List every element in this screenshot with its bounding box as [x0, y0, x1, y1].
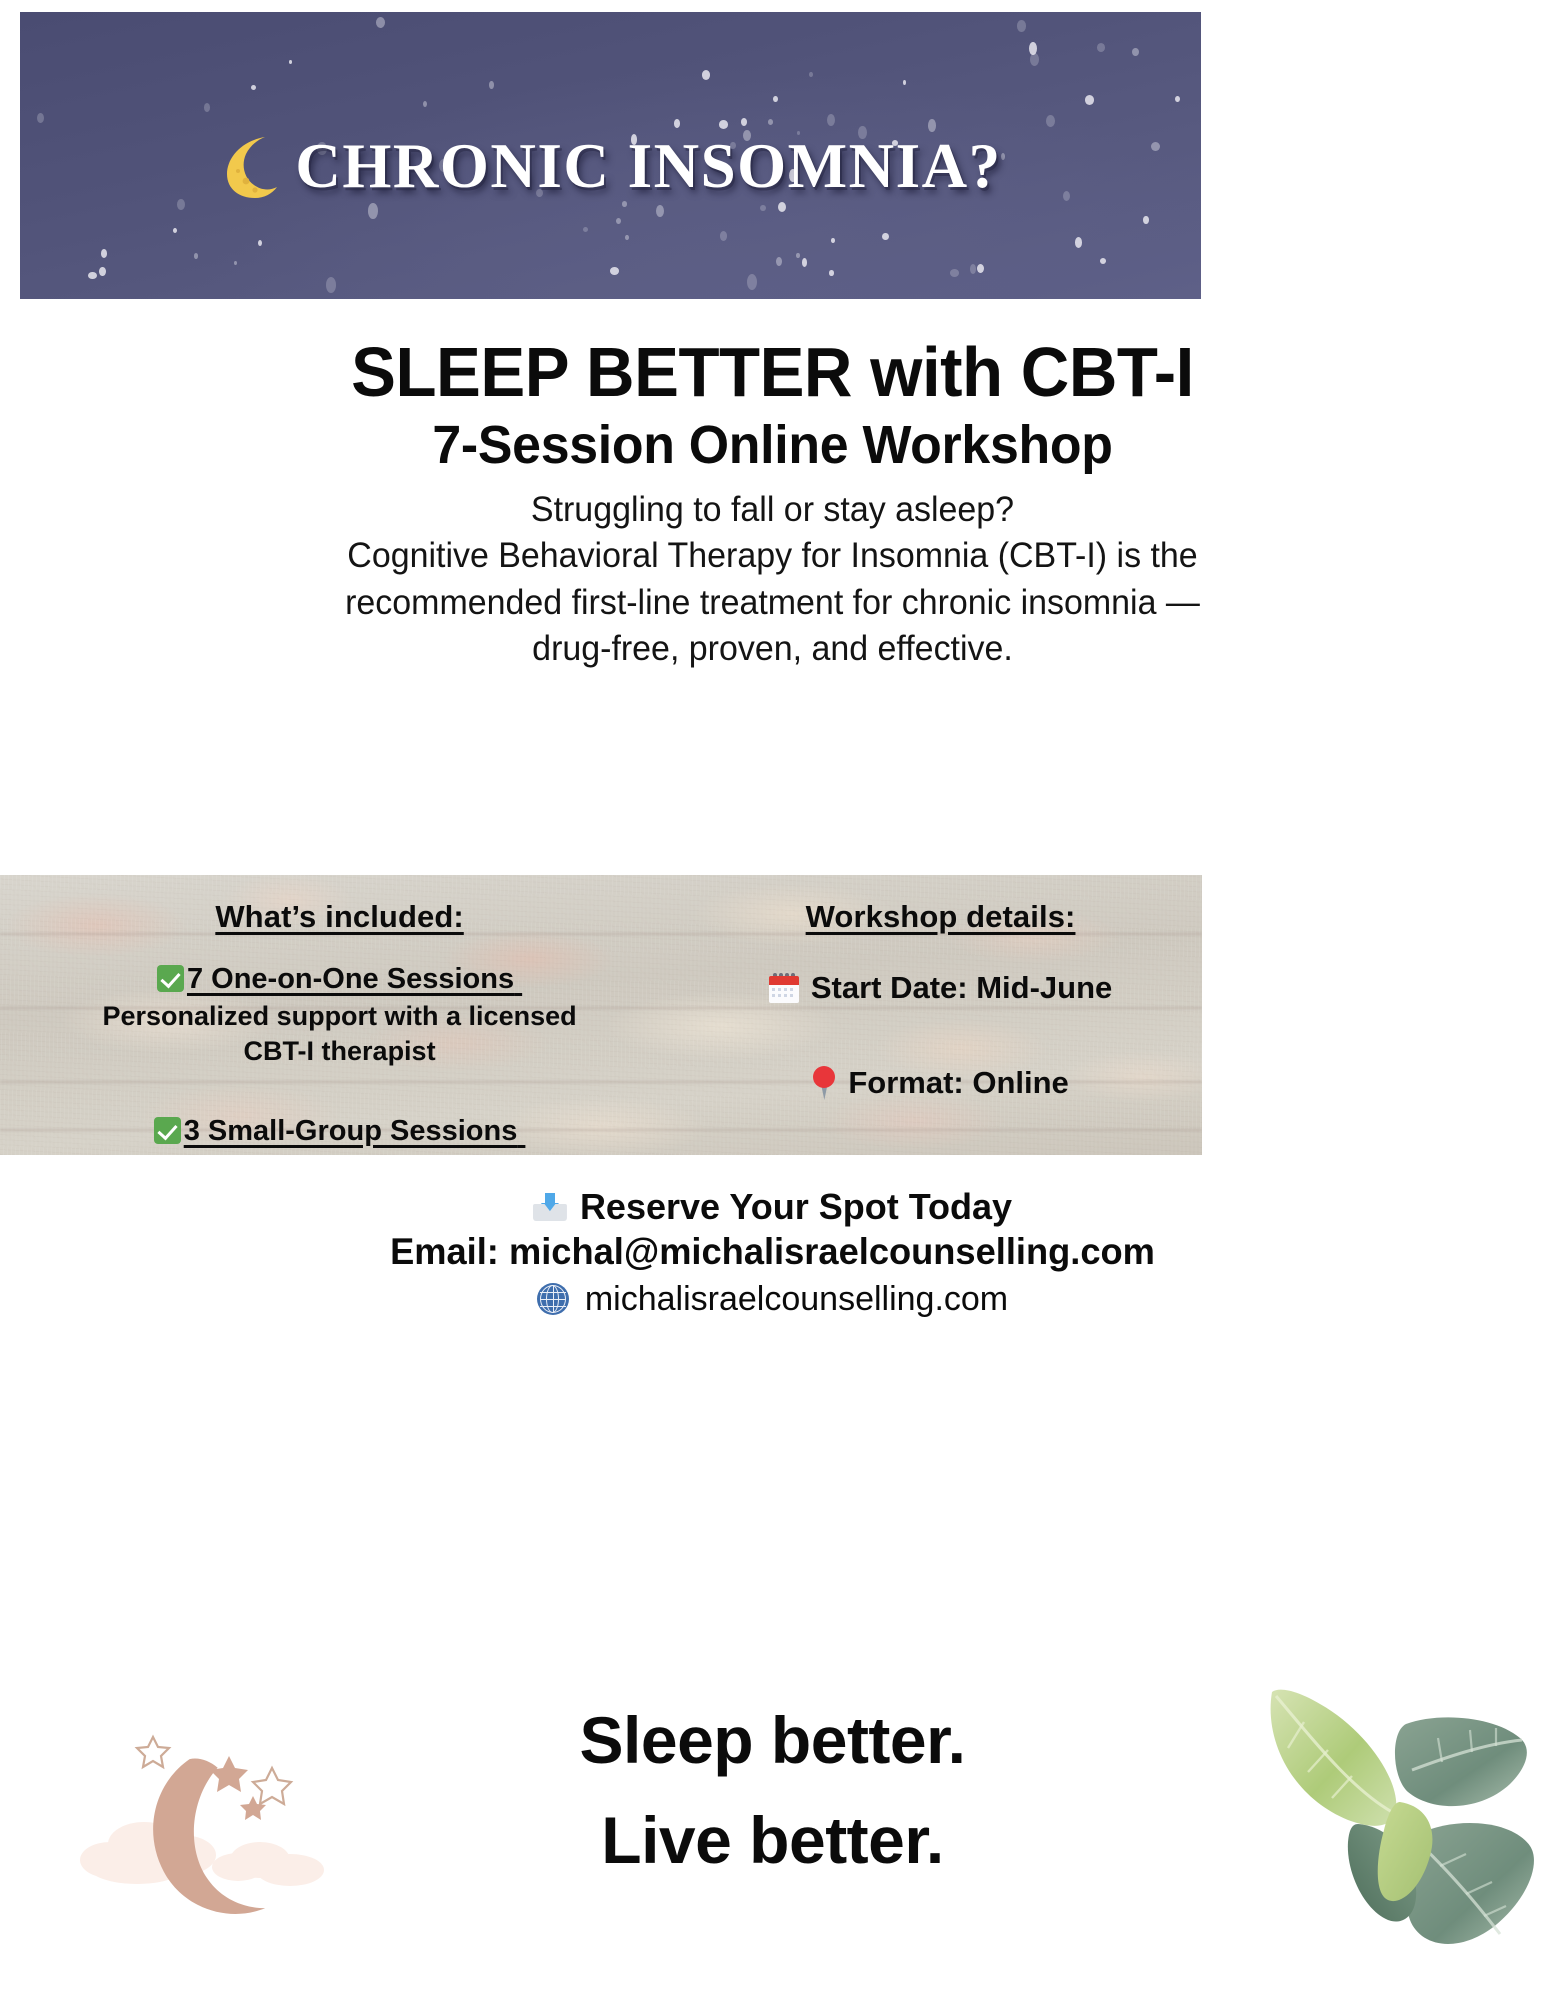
- workshop-details-heading-text: Workshop details:: [806, 899, 1076, 934]
- intro-line: Cognitive Behavioral Therapy for Insomni…: [23, 533, 1522, 579]
- website-text: michalisraelcounselling.com: [585, 1277, 1008, 1321]
- details-panel: What’s included: 7 One-on-One Sessions P…: [0, 875, 1202, 1155]
- intro-line: Struggling to fall or stay asleep?: [23, 487, 1522, 533]
- email-link[interactable]: Email: michal@michalisraelcounselling.co…: [15, 1229, 1529, 1275]
- intro-line: drug-free, proven, and effective.: [23, 626, 1522, 672]
- included-item-title: 7 One-on-One Sessions: [0, 963, 679, 996]
- included-item-desc-line: CBT-I therapist: [244, 1036, 436, 1066]
- detail-row: Format: Online: [679, 1065, 1202, 1101]
- page-subtitle: 7-Session Online Workshop: [31, 415, 1514, 475]
- green-check-icon: [154, 1117, 181, 1144]
- included-item-title: 3 Small-Group Sessions: [0, 1115, 679, 1148]
- detail-row-text: Format: Online: [848, 1065, 1068, 1101]
- included-heading: What’s included:: [0, 899, 679, 935]
- included-item-desc: Personalized support with a licensed CBT…: [0, 999, 679, 1068]
- included-item: 7 One-on-One Sessions Personalized suppo…: [0, 963, 679, 1068]
- contact-block: Reserve Your Spot Today Email: michal@mi…: [0, 1185, 1545, 1321]
- banner-title-row: CHRONIC INSOMNIA?: [20, 130, 1201, 203]
- workshop-details-column: Workshop details: Start Date: Mid-June: [679, 875, 1202, 1155]
- headline-block: SLEEP BETTER with CBT-I 7-Session Online…: [0, 336, 1545, 672]
- reserve-cta-text: Reserve Your Spot Today: [580, 1185, 1012, 1229]
- included-heading-text: What’s included:: [215, 899, 463, 934]
- detail-row: Start Date: Mid-June: [679, 970, 1202, 1006]
- included-item-desc-line: Learn and connect in a supportive space: [78, 1153, 602, 1155]
- globe-icon: [537, 1283, 569, 1315]
- included-item-desc: Learn and connect in a supportive space: [0, 1151, 679, 1155]
- intro-paragraph: Struggling to fall or stay asleep? Cogni…: [0, 487, 1545, 672]
- included-item-title-text: 7 One-on-One Sessions: [187, 963, 514, 995]
- intro-line: recommended first-line treatment for chr…: [23, 580, 1522, 626]
- website-link[interactable]: michalisraelcounselling.com: [0, 1277, 1545, 1321]
- calendar-icon: [769, 973, 799, 1003]
- location-pin-icon: [812, 1066, 836, 1100]
- workshop-details-heading: Workshop details:: [679, 899, 1202, 935]
- reserve-cta[interactable]: Reserve Your Spot Today: [0, 1185, 1545, 1229]
- included-item: 3 Small-Group Sessions Learn and connect…: [0, 1115, 679, 1155]
- watercolor-leaves-icon: [1180, 1620, 1545, 2000]
- included-item-title-text: 3 Small-Group Sessions: [184, 1115, 518, 1147]
- night-sky-banner: CHRONIC INSOMNIA?: [20, 12, 1201, 299]
- crescent-moon-icon: [219, 134, 281, 200]
- banner-headline: CHRONIC INSOMNIA?: [295, 130, 1001, 203]
- inbox-tray-icon: [533, 1193, 567, 1221]
- included-column: What’s included: 7 One-on-One Sessions P…: [0, 875, 679, 1155]
- moon-clouds-stars-icon: [52, 1692, 362, 1962]
- page-title: SLEEP BETTER with CBT-I: [31, 336, 1514, 409]
- green-check-icon: [157, 965, 184, 992]
- flyer-root: CHRONIC INSOMNIA? SLEEP BETTER with CBT-…: [0, 0, 1545, 2000]
- included-item-desc-line: Personalized support with a licensed: [103, 1001, 577, 1031]
- detail-row-text: Start Date: Mid-June: [811, 970, 1112, 1006]
